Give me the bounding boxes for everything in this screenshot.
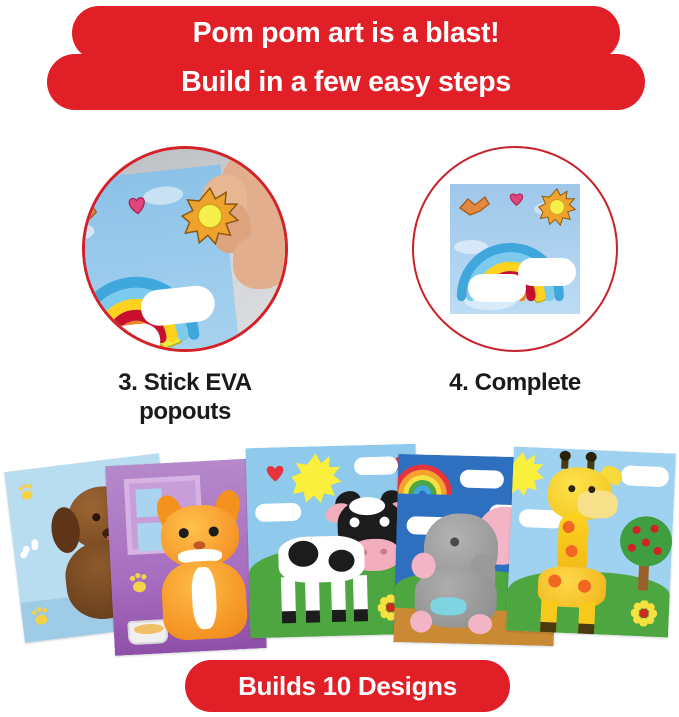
board-cloud — [142, 185, 184, 207]
product-feature-image: Build in a few easy steps Pom pom art is… — [0, 0, 679, 717]
bone-icon — [19, 533, 42, 562]
step-3-caption-line2: popouts — [42, 397, 328, 426]
cat-design-card — [105, 458, 267, 656]
header-line-1: Pom pom art is a blast! — [72, 17, 620, 50]
header-line-2: Build in a few easy steps — [47, 66, 645, 99]
pink-heart-icon — [508, 192, 525, 207]
orange-bird-icon — [82, 199, 102, 232]
rainbow-icon — [394, 460, 455, 498]
cat-card-bg — [105, 458, 267, 656]
pom-cloud — [518, 258, 576, 286]
paw-print-icon — [127, 570, 152, 595]
giraffe-design-card — [506, 447, 676, 638]
step-3-caption: 3. Stick EVA popouts — [42, 368, 328, 427]
paw-print-icon — [29, 603, 54, 628]
completed-artwork — [450, 184, 580, 314]
step-4-ring-circle — [412, 146, 618, 352]
pink-heart-icon — [125, 194, 149, 216]
pom-cloud — [354, 456, 398, 475]
step-4-caption: 4. Complete — [372, 368, 658, 397]
header-banner-lower: Build in a few easy steps — [47, 54, 645, 110]
giraffe-card-bg — [506, 447, 676, 638]
pom-cloud — [468, 274, 526, 302]
header-banner-upper: Pom pom art is a blast! — [72, 6, 620, 60]
giraffe-pom-body — [532, 454, 643, 630]
cow-pom-body — [263, 490, 414, 628]
builds-count-banner: Builds 10 Designs — [185, 660, 510, 712]
step-4-caption-line1: 4. Complete — [372, 368, 658, 397]
builds-count-text: Builds 10 Designs — [185, 671, 510, 702]
cat-pom-body — [148, 484, 260, 645]
red-heart-icon — [264, 463, 287, 484]
design-cards-fan — [0, 440, 679, 655]
sun-popout-icon — [181, 187, 239, 245]
step-3-caption-line1: 3. Stick EVA — [42, 368, 328, 397]
pom-cloud — [460, 470, 504, 489]
step-3-photo-circle — [82, 146, 288, 352]
paw-print-icon — [15, 480, 37, 502]
